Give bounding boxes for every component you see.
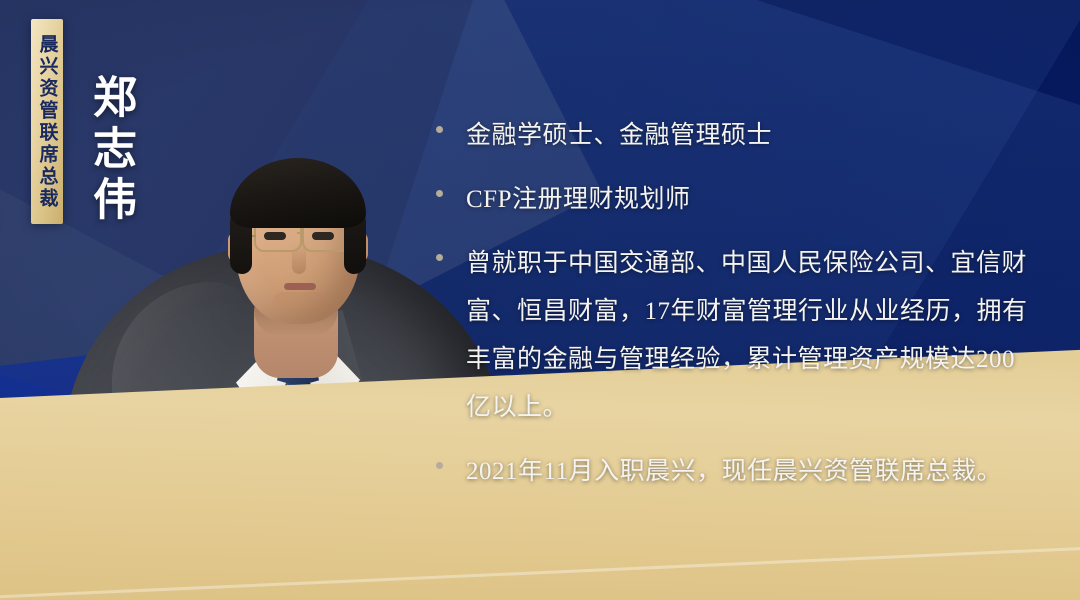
- bullet-dot-icon: [436, 462, 443, 469]
- list-item: CFP注册理财规划师: [436, 176, 1036, 224]
- title-banner: 晨兴资管联席总裁: [31, 19, 63, 224]
- title-banner-label: 晨兴资管联席总裁: [38, 34, 57, 210]
- list-item-text: 金融学硕士、金融管理硕士: [466, 112, 1036, 160]
- list-item-text: CFP注册理财规划师: [466, 176, 1036, 224]
- presentation-slide: 晨兴资管联席总裁 郑志伟 金融学硕士、金融管理硕士 CFP注册理财规划师 曾就职…: [0, 0, 1080, 600]
- bullet-dot-icon: [436, 190, 443, 197]
- list-item: 曾就职于中国交通部、中国人民保险公司、宜信财富、恒昌财富，17年财富管理行业从业…: [436, 240, 1036, 432]
- bullet-list: 金融学硕士、金融管理硕士 CFP注册理财规划师 曾就职于中国交通部、中国人民保险…: [436, 112, 1036, 512]
- list-item-text: 2021年11月入职晨兴，现任晨兴资管联席总裁。: [466, 448, 1036, 496]
- hair: [230, 158, 366, 228]
- list-item: 金融学硕士、金融管理硕士: [436, 112, 1036, 160]
- list-item: 2021年11月入职晨兴，现任晨兴资管联席总裁。: [436, 448, 1036, 496]
- chin-shading: [272, 292, 328, 314]
- bullet-dot-icon: [436, 126, 443, 133]
- mouth: [284, 283, 316, 290]
- eyeglasses-bridge: [297, 232, 304, 234]
- bullet-dot-icon: [436, 254, 443, 261]
- list-item-text: 曾就职于中国交通部、中国人民保险公司、宜信财富、恒昌财富，17年财富管理行业从业…: [466, 240, 1036, 432]
- person-name: 郑志伟: [88, 74, 132, 227]
